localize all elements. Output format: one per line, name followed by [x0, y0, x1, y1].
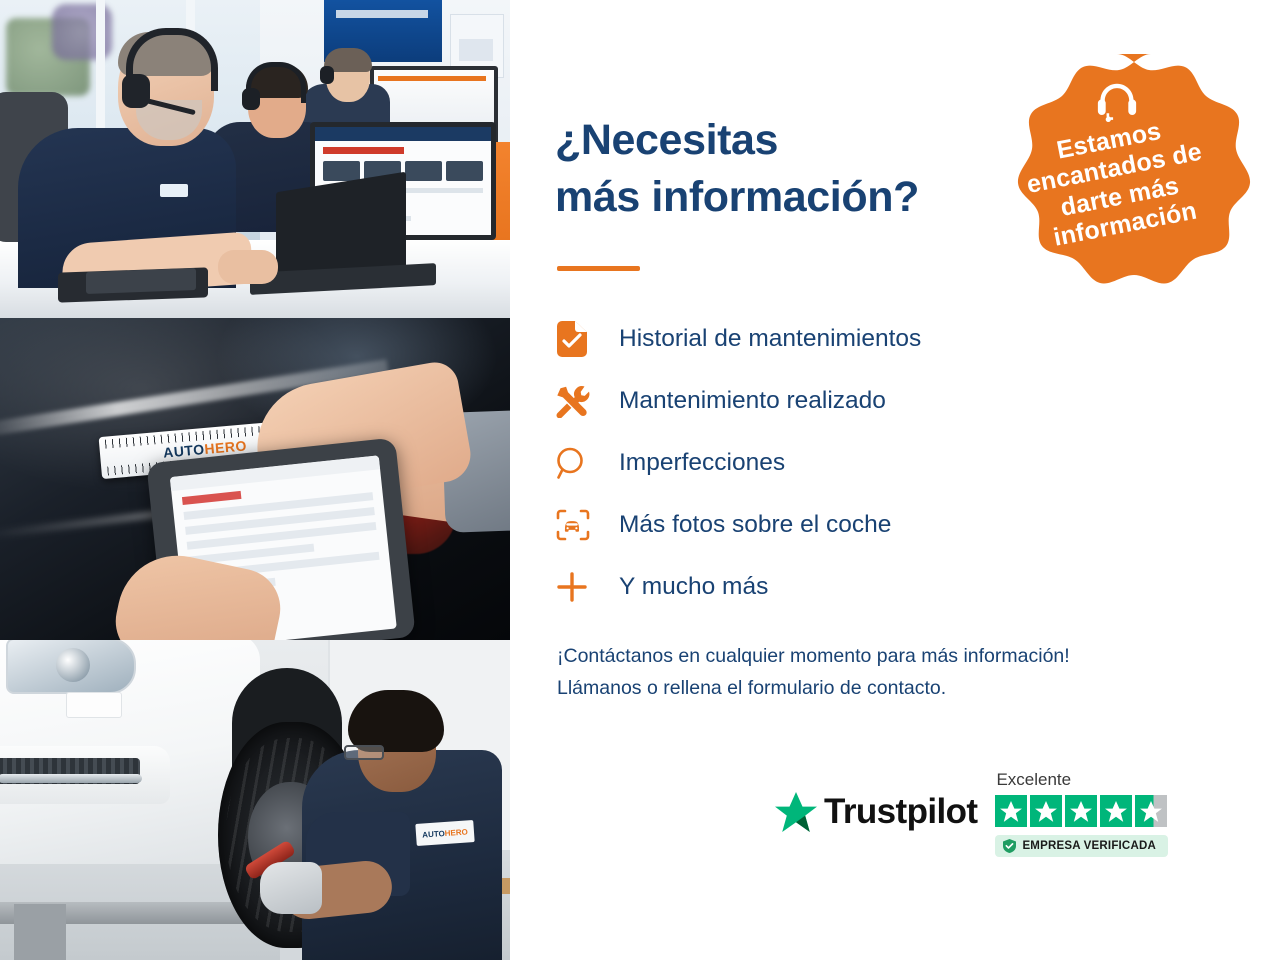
headset-icon: [1096, 82, 1138, 122]
plus-icon: [556, 569, 598, 605]
verified-company-badge: EMPRESA VERIFICADA: [995, 835, 1168, 857]
support-badge-text: Estamos encantados de darte más informac…: [1008, 108, 1226, 257]
page-title: ¿Necesitas más información?: [555, 112, 919, 226]
feature-label: Historial de mantenimientos: [619, 325, 921, 353]
feature-item-much-more: Y mucho más: [556, 556, 1076, 618]
trustpilot-star-icon: [775, 792, 817, 832]
star-filled-1: [995, 795, 1027, 827]
safety-glasses: [344, 745, 384, 760]
feature-item-imperfections: Imperfecciones: [556, 432, 1076, 494]
star-filled-2: [1030, 795, 1062, 827]
car-headlight: [6, 640, 136, 694]
star-half-5: [1135, 795, 1167, 827]
content-area: Estamos encantados de darte más informac…: [510, 0, 1280, 960]
trustpilot-rating-label: Excelente: [996, 770, 1071, 790]
magnifier-icon: [556, 445, 598, 481]
feature-item-more-photos: Más fotos sobre el coche: [556, 494, 1076, 556]
shield-check-icon: [1003, 839, 1016, 853]
verified-company-label: EMPRESA VERIFICADA: [1022, 840, 1156, 852]
wrench-screwdriver-icon: [556, 383, 598, 419]
feature-label: Mantenimiento realizado: [619, 387, 886, 415]
star-filled-3: [1065, 795, 1097, 827]
trustpilot-wordmark: Trustpilot: [824, 792, 977, 832]
support-badge: Estamos encantados de darte más informac…: [982, 48, 1252, 320]
work-glove: [260, 862, 322, 914]
document-check-icon: [556, 321, 598, 357]
star-filled-4: [1100, 795, 1132, 827]
title-divider: [557, 266, 640, 271]
feature-list: Historial de mantenimientos Mantenimient…: [556, 308, 1076, 618]
trustpilot-logo: Trustpilot: [775, 792, 977, 832]
photo-ruler-inspection: AUTOHERO: [0, 318, 510, 640]
photo-column: AUTOHERO: [0, 0, 510, 960]
car-viewfinder-icon: [556, 507, 598, 543]
trustpilot-stars: [995, 795, 1167, 827]
photo-call-center: [0, 0, 510, 318]
feature-label: Y mucho más: [619, 573, 768, 601]
feature-item-maintenance-done: Mantenimiento realizado: [556, 370, 1076, 432]
agent-name-badge: [160, 184, 188, 197]
trustpilot-widget[interactable]: Trustpilot Excelente: [775, 770, 1168, 857]
photo-wheel-service: AUTOHERO: [0, 640, 510, 960]
feature-label: Más fotos sobre el coche: [619, 511, 891, 539]
autohero-shirt-badge: AUTOHERO: [415, 820, 474, 846]
feature-item-maintenance-history: Historial de mantenimientos: [556, 308, 1076, 370]
feature-label: Imperfecciones: [619, 449, 785, 477]
promo-panel: AUTOHERO: [0, 0, 1280, 960]
contact-paragraph: ¡Contáctanos en cualquier momento para m…: [557, 640, 1070, 704]
